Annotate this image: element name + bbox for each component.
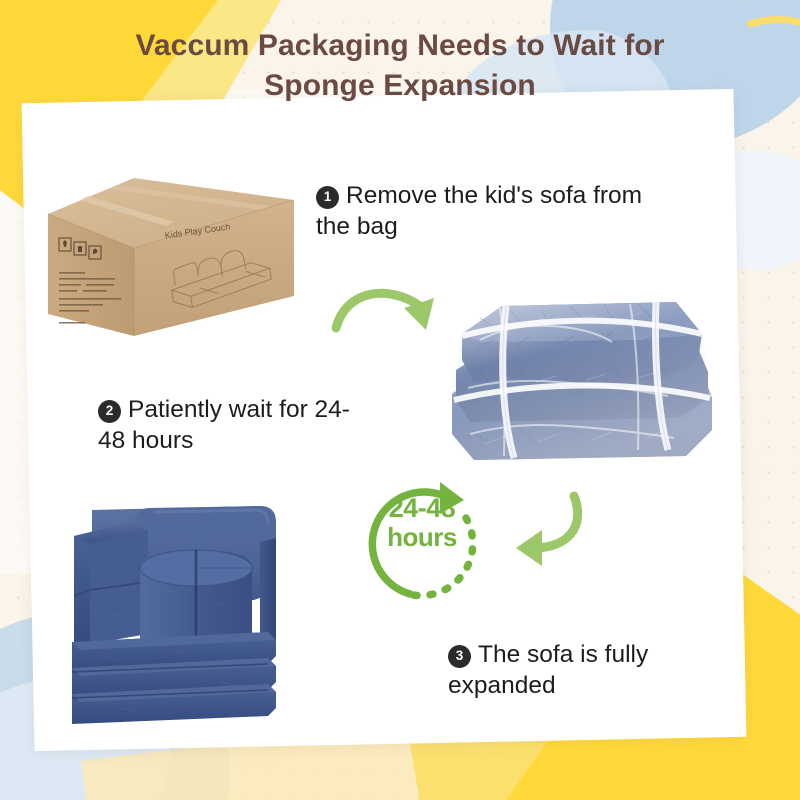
curved-arrow-2-svg — [498, 486, 622, 582]
cardboard-box-illustration: Kids Play Couch — [46, 176, 296, 356]
step-3-text: The sofa is fully expanded — [448, 641, 648, 699]
step-2-badge: 2 — [98, 400, 121, 423]
vacuum-bag-svg — [440, 278, 722, 478]
step-2-text: Patiently wait for 24-48 hours — [98, 396, 350, 454]
sofa-svg — [62, 492, 362, 727]
expanded-sofa-illustration — [62, 492, 362, 727]
step-1-badge: 1 — [316, 186, 339, 209]
timer-label: 24-48 hours — [348, 494, 496, 551]
cardboard-box-svg: Kids Play Couch — [46, 176, 296, 356]
step-1: 1Remove the kid's sofa from the bag — [316, 181, 646, 242]
infographic-canvas: Vaccum Packaging Needs to Wait for Spong… — [0, 0, 800, 800]
curved-arrow-1 — [330, 262, 462, 354]
timer-value: 24-48 — [389, 493, 456, 523]
curved-arrow-2 — [498, 486, 622, 582]
timer-unit: hours — [348, 523, 496, 551]
page-title-line-1: Vaccum Packaging Needs to Wait for — [135, 29, 664, 62]
page-title: Vaccum Packaging Needs to Wait for Spong… — [0, 26, 800, 106]
vacuum-bag-illustration — [440, 278, 722, 478]
step-1-text: Remove the kid's sofa from the bag — [316, 182, 642, 240]
timer-graphic: 24-48 hours — [348, 466, 498, 618]
step-2: 2Patiently wait for 24-48 hours — [98, 395, 368, 456]
curved-arrow-1-svg — [330, 262, 462, 354]
page-title-line-2: Sponge Expansion — [0, 66, 800, 106]
step-3-badge: 3 — [448, 645, 471, 668]
step-3: 3The sofa is fully expanded — [448, 640, 728, 701]
